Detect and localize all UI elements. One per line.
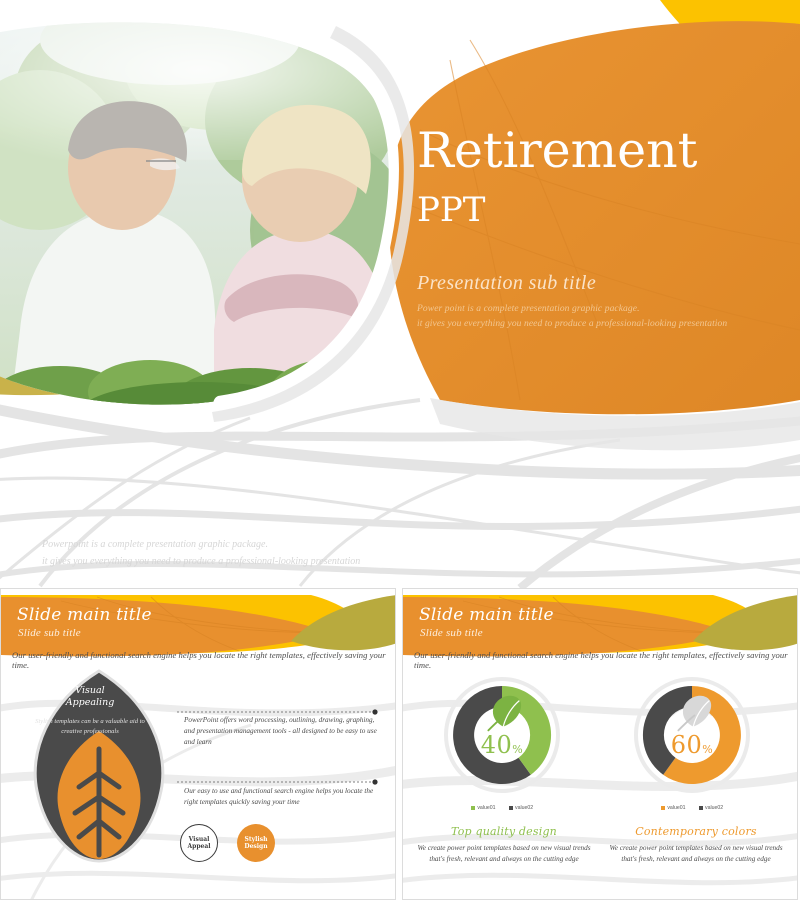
donut-2-number: 60 [671,731,703,759]
presentation-body-line2: it gives you everything you need to prod… [417,317,787,332]
title-slide-footer: Powerpoint is a complete presentation gr… [42,536,522,570]
donut-1-legend: value01 value02 [419,805,585,811]
leaf-heading-line1: Visual [31,685,149,697]
donut-chart-2: 60% [609,673,775,799]
donut-2-legend: value01 value02 [609,805,775,811]
donut-1-unit: % [512,743,523,756]
slide-subtitle-left: Slide sub title [18,627,81,639]
template-preview-page: Retirement PPT Presentation sub title Po… [0,0,800,900]
legend-label-value02: value02 [515,805,533,811]
legend-label-value02: value02 [705,805,723,811]
donut-chart-1: 40% [419,673,585,799]
legend-item-value01: value01 [471,805,496,811]
page-title: Retirement [417,126,787,176]
legend-swatch-value02 [509,806,513,810]
badge-visual-appeal[interactable]: VisualAppeal [180,824,218,862]
leaf-heading: Visual Appealing [31,685,149,710]
leaf-heading-line2: Appealing [31,697,149,709]
donut-1-value: 40% [419,731,585,759]
slide-subtitle-right: Slide sub title [420,627,483,639]
slide-lead-right: Our user-friendly and functional search … [414,650,790,670]
chart-caption-1-heading: Top quality design [411,825,597,838]
chart-caption-2-heading: Contemporary colors [603,825,789,838]
chart-caption-1-body: We create power point templates based on… [411,843,597,865]
legend-item-value02: value02 [509,805,534,811]
slide-thumbnail-charts[interactable]: Slide main title Slide sub title Our use… [402,588,798,900]
legend-swatch-value02 [699,806,703,810]
title-slide: Retirement PPT Presentation sub title Po… [0,0,800,588]
legend-swatch-value01 [471,806,475,810]
footer-line2: it gives you everything you need to prod… [42,553,522,570]
presentation-body: Power point is a complete presentation g… [417,302,787,331]
chart-caption-1: Top quality design We create power point… [411,825,597,865]
badge-stylish-design-label: StylishDesign [244,836,267,851]
legend-swatch-value01 [661,806,665,810]
badge-visual-appeal-label: VisualAppeal [187,836,210,851]
page-subtitle: PPT [417,192,787,229]
callout-text-2: Our easy to use and functional search en… [184,786,380,808]
legend-label-value01: value01 [667,805,685,811]
footer-line1: Powerpoint is a complete presentation gr… [42,536,522,553]
legend-item-value01: value01 [661,805,686,811]
legend-label-value01: value01 [477,805,495,811]
slide-title-left: Slide main title [17,605,152,625]
slide-lead-left: Our user-friendly and functional search … [12,650,388,670]
donut-2-unit: % [702,743,713,756]
legend-item-value02: value02 [699,805,724,811]
leaf-body: Stylish templates can be a valuable aid … [29,717,151,736]
donut-1-number: 40 [481,731,513,759]
slide-thumbnails: Slide main title Slide sub title Our use… [0,588,800,900]
presentation-subtitle: Presentation sub title [417,272,787,295]
presentation-body-line1: Power point is a complete presentation g… [417,302,787,317]
badge-stylish-design[interactable]: StylishDesign [237,824,275,862]
chart-caption-2-body: We create power point templates based on… [603,843,789,865]
title-block: Retirement PPT Presentation sub title Po… [417,126,787,332]
callout-text-1: PowerPoint offers word processing, outli… [184,715,384,748]
slide-title-right: Slide main title [419,605,554,625]
donut-2-value: 60% [609,731,775,759]
chart-caption-2: Contemporary colors We create power poin… [603,825,789,865]
